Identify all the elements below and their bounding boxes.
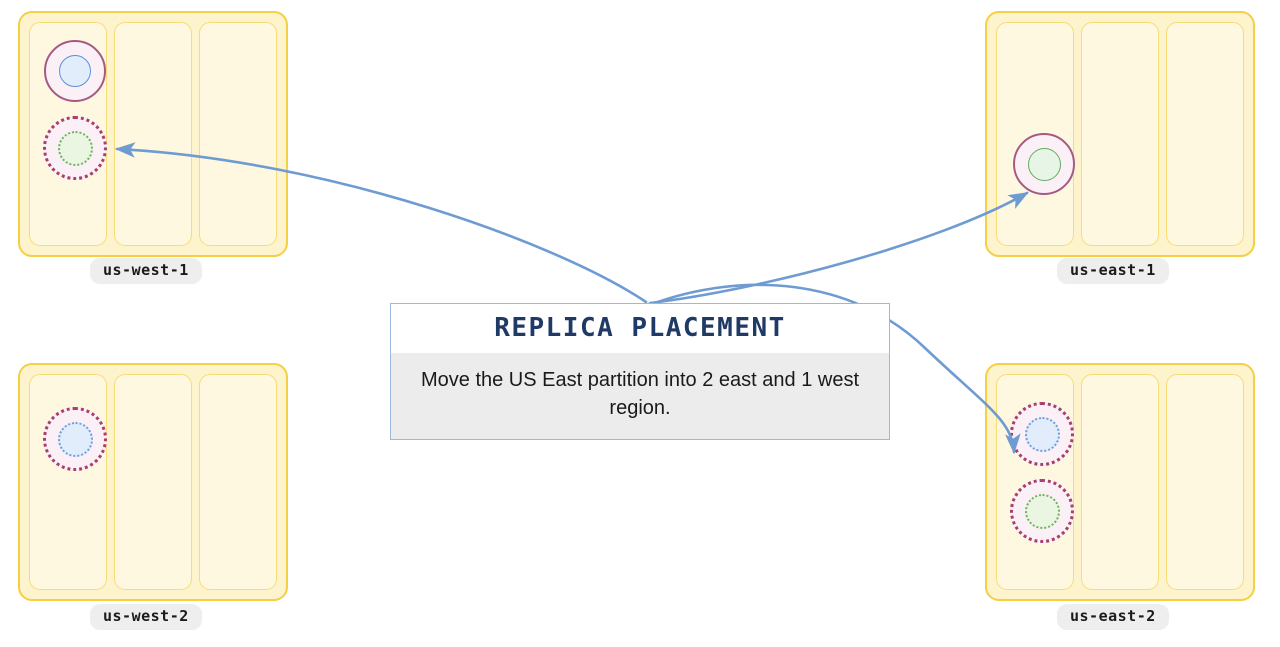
- replica-placement-note[interactable]: REPLICA PLACEMENT Move the US East parti…: [390, 303, 890, 440]
- note-title: REPLICA PLACEMENT: [391, 304, 889, 353]
- region-label-us-west-2: us-west-2: [90, 604, 202, 630]
- replica-core-green: [1025, 494, 1060, 529]
- rack: [114, 22, 192, 246]
- diagram-canvas: us-west-1 us-east-1 us-west-2: [0, 0, 1280, 647]
- replica-core-green: [1028, 148, 1061, 181]
- rack: [199, 22, 277, 246]
- replica-core-green: [58, 131, 93, 166]
- rack: [1166, 374, 1244, 590]
- rack: [29, 374, 107, 590]
- region-us-west-1[interactable]: [18, 11, 288, 257]
- region-us-west-2[interactable]: [18, 363, 288, 601]
- replica-core-blue: [1025, 417, 1060, 452]
- replica-token-dotted-blue[interactable]: [1010, 402, 1074, 466]
- region-label-text: us-east-2: [1070, 607, 1156, 625]
- replica-token-dotted-green[interactable]: [43, 116, 107, 180]
- rack: [1081, 22, 1159, 246]
- rack: [29, 22, 107, 246]
- region-us-east-2[interactable]: [985, 363, 1255, 601]
- rack: [199, 374, 277, 590]
- replica-token-solid-blue[interactable]: [44, 40, 106, 102]
- replica-core-blue: [59, 55, 91, 87]
- replica-token-solid-green[interactable]: [1013, 133, 1075, 195]
- replica-token-dotted-green[interactable]: [1010, 479, 1074, 543]
- region-label-us-east-2: us-east-2: [1057, 604, 1169, 630]
- rack: [1166, 22, 1244, 246]
- region-label-text: us-west-2: [103, 607, 189, 625]
- replica-token-dotted-blue[interactable]: [43, 407, 107, 471]
- arrow-to-us-east-1: [650, 193, 1027, 303]
- rack: [996, 374, 1074, 590]
- replica-core-blue: [58, 422, 93, 457]
- rack: [996, 22, 1074, 246]
- region-label-us-west-1: us-west-1: [90, 258, 202, 284]
- region-label-us-east-1: us-east-1: [1057, 258, 1169, 284]
- region-us-east-1[interactable]: [985, 11, 1255, 257]
- rack: [1081, 374, 1159, 590]
- rack: [114, 374, 192, 590]
- region-label-text: us-east-1: [1070, 261, 1156, 279]
- note-body: Move the US East partition into 2 east a…: [391, 353, 889, 439]
- region-label-text: us-west-1: [103, 261, 189, 279]
